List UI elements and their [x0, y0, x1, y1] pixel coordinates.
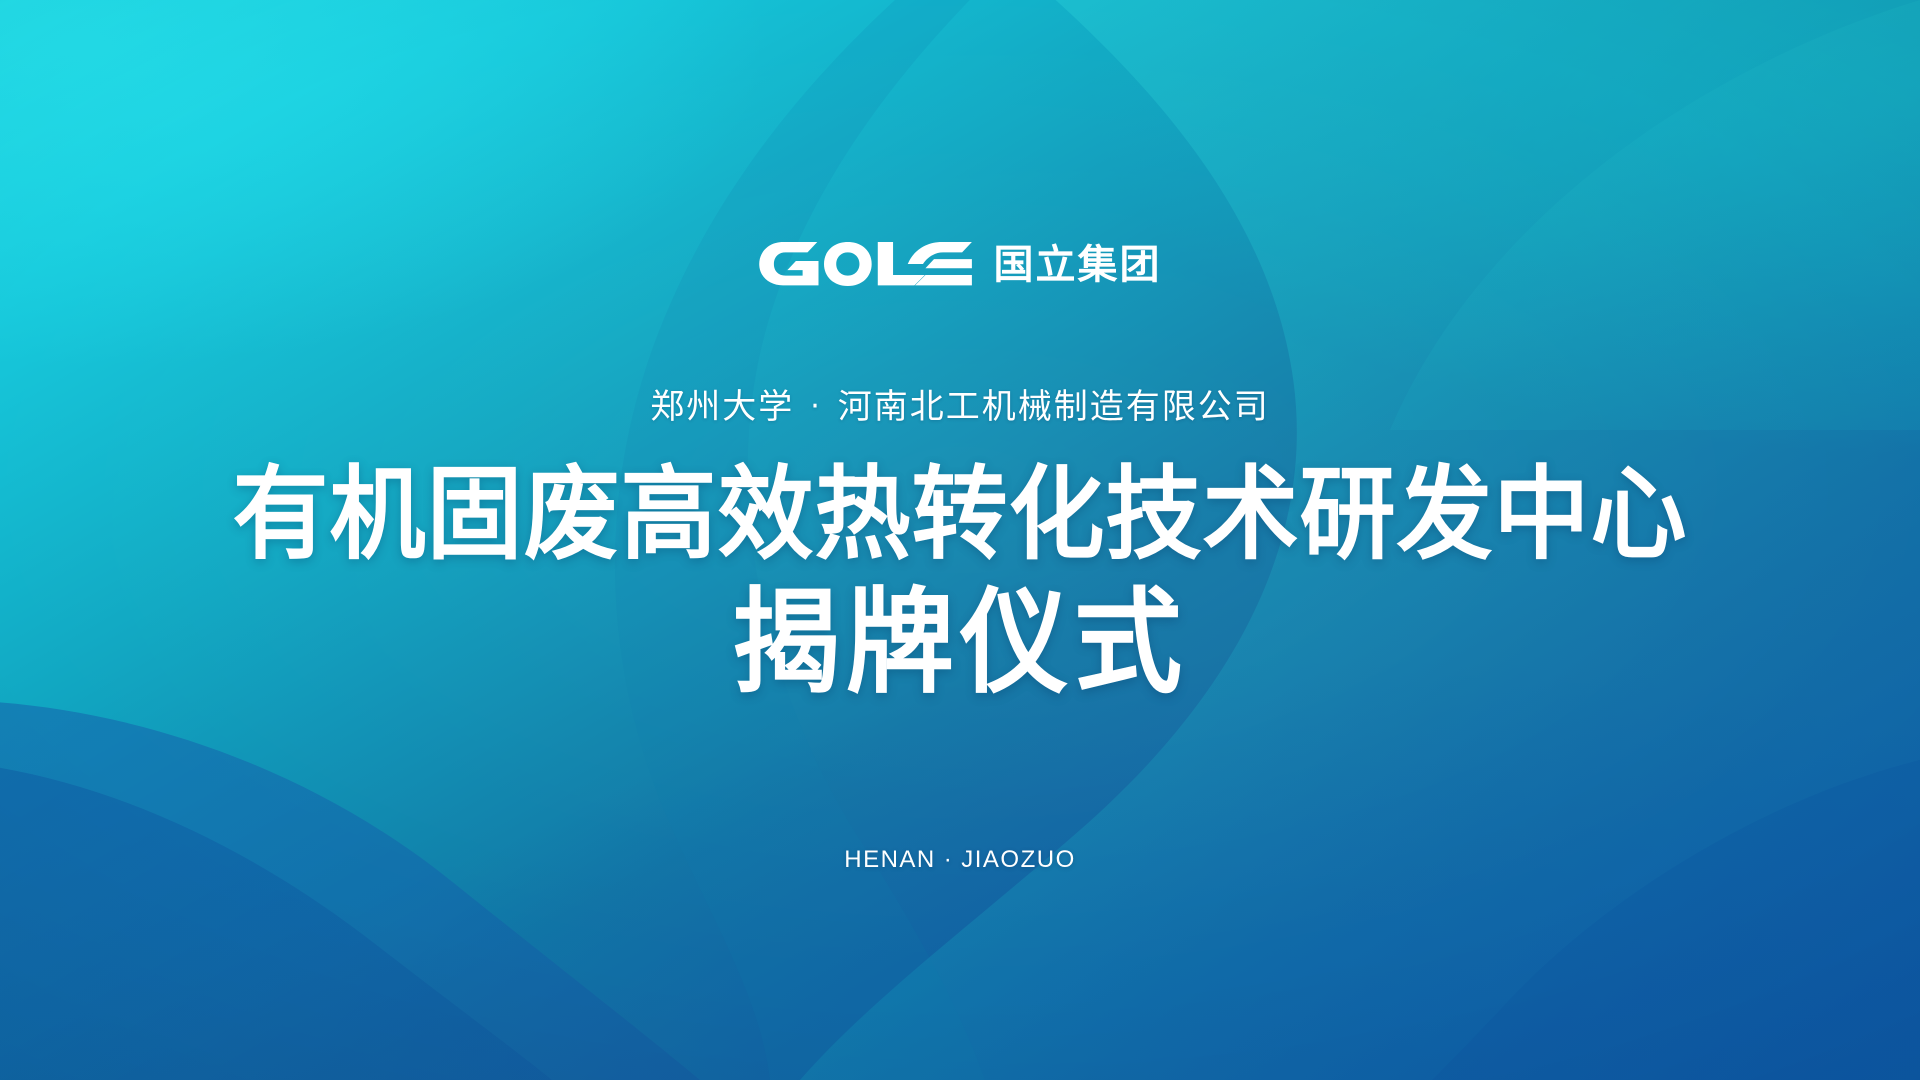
partner-company: 河南北工机械制造有限公司	[838, 387, 1270, 427]
title-line-1: 有机固废高效热转化技术研发中心	[0, 452, 1920, 577]
poster-content: 国立集团 郑州大学·河南北工机械制造有限公司 有机固废高效热转化技术研发中心 揭…	[0, 0, 1920, 1080]
footer-location: HENAN·JIAOZUO	[0, 846, 1920, 874]
footer-city: JIAOZUO	[961, 846, 1076, 873]
footer-separator: ·	[936, 846, 962, 873]
main-title: 有机固废高效热转化技术研发中心 揭牌仪式	[0, 452, 1920, 706]
gole-wordmark-icon	[758, 242, 973, 286]
brand-logo-lockup: 国立集团	[0, 237, 1920, 291]
partners-line: 郑州大学·河南北工机械制造有限公司	[0, 386, 1920, 429]
partner-university: 郑州大学	[650, 387, 794, 427]
title-line-2: 揭牌仪式	[0, 574, 1920, 714]
partner-separator: ·	[794, 388, 838, 426]
footer-region: HENAN	[844, 846, 936, 873]
poster-canvas: 国立集团 郑州大学·河南北工机械制造有限公司 有机固废高效热转化技术研发中心 揭…	[0, 0, 1920, 1080]
brand-chinese-name: 国立集团	[994, 245, 1162, 285]
